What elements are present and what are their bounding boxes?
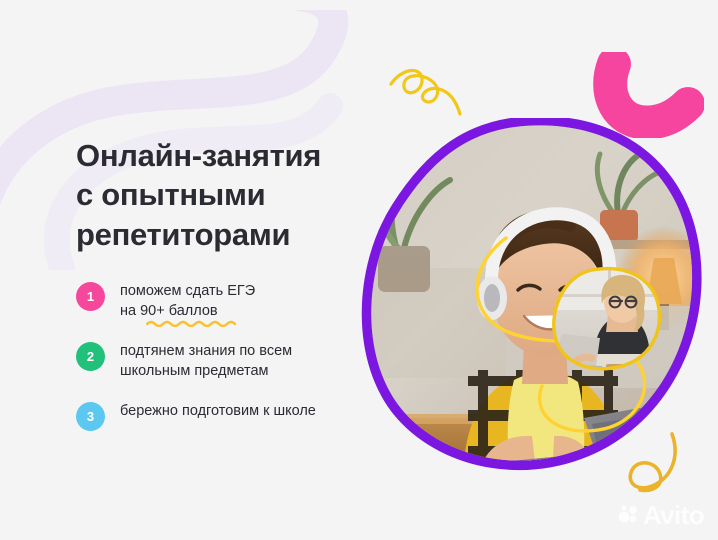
bullet-text: поможем сдать ЕГЭ на 90+ баллов xyxy=(120,281,255,321)
avito-watermark: Avito xyxy=(618,502,704,528)
bullet-number-badge: 2 xyxy=(76,342,105,371)
list-item: 3 бережно подготовим к школе xyxy=(76,401,386,431)
avito-dots-icon xyxy=(618,504,640,526)
bullet-text-line-1: подтянем знания по всем xyxy=(120,341,292,361)
bullet-number-badge: 3 xyxy=(76,402,105,431)
badge-number: 3 xyxy=(87,409,94,424)
bullet-number-badge: 1 xyxy=(76,282,105,311)
yellow-curl-squiggle-icon xyxy=(388,62,466,124)
headline-line-1: Онлайн-занятия xyxy=(76,136,376,175)
list-item: 2 подтянем знания по всем школьным предм… xyxy=(76,341,386,381)
benefits-list: 1 поможем сдать ЕГЭ на 90+ баллов 2 подт… xyxy=(76,281,386,431)
avito-brand-text: Avito xyxy=(643,502,704,528)
bullet-text: бережно подготовим к школе xyxy=(120,401,316,421)
headline-line-3: репетиторами xyxy=(76,215,376,254)
list-item: 1 поможем сдать ЕГЭ на 90+ баллов xyxy=(76,281,386,321)
headline: Онлайн-занятия с опытными репетиторами xyxy=(76,136,376,254)
badge-number: 2 xyxy=(87,349,94,364)
badge-number: 1 xyxy=(87,289,94,304)
bullet-text-line-1: поможем сдать ЕГЭ xyxy=(120,281,255,301)
bullet-text: подтянем знания по всем школьным предмет… xyxy=(120,341,292,381)
wavy-underline-decoration xyxy=(146,320,239,327)
hero-photo-composition xyxy=(356,118,718,488)
bullet-text-line-2: на 90+ баллов xyxy=(120,301,255,321)
promo-banner: Онлайн-занятия с опытными репетиторами 1… xyxy=(0,0,718,540)
bullet-text-line-1: бережно подготовим к школе xyxy=(120,401,316,421)
headline-line-2: с опытными xyxy=(76,175,376,214)
bullet-text-line-2: школьным предметам xyxy=(120,361,292,381)
